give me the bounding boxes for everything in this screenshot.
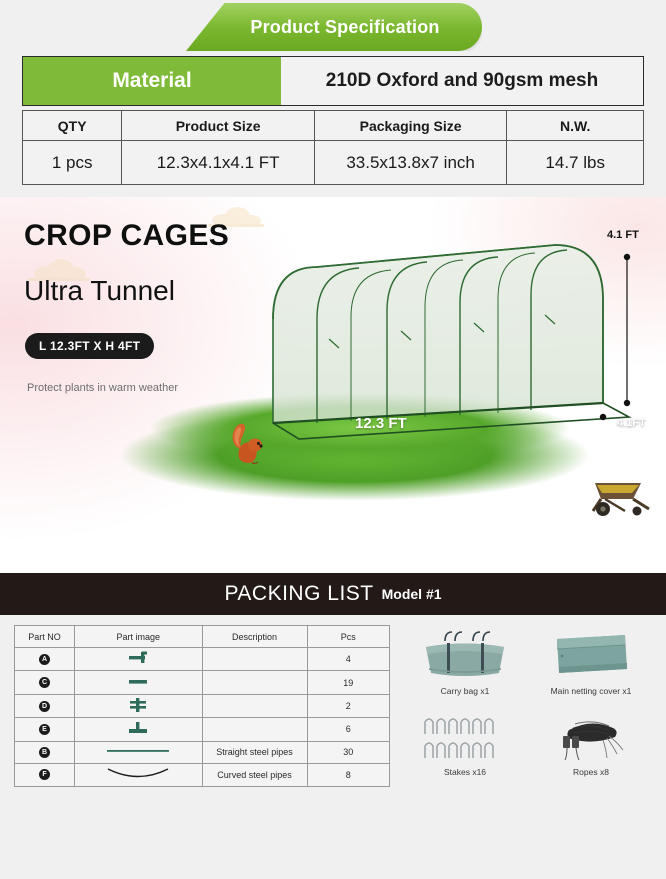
hero-subtitle: Ultra Tunnel xyxy=(24,275,175,307)
material-label: Material xyxy=(23,57,281,105)
part-no-cell: E xyxy=(15,718,75,741)
description-cell xyxy=(202,671,307,694)
spec-value-row: 1 pcs 12.3x4.1x4.1 FT 33.5x13.8x7 inch 1… xyxy=(23,141,644,185)
ropes-icon xyxy=(545,714,637,762)
hero-title: CROP CAGES xyxy=(24,219,229,253)
part-no-cell: D xyxy=(15,694,75,717)
table-row: C 19 xyxy=(15,671,390,694)
material-row: Material 210D Oxford and 90gsm mesh xyxy=(22,56,644,106)
straight-pipe-icon xyxy=(105,746,171,756)
parts-header-row: Part NO Part image Description Pcs xyxy=(15,626,390,648)
table-row: F Curved steel pipes 8 xyxy=(15,763,390,786)
product-image-tunnel-greenhouse: 4.1 FT 12.3 FT 4.1FT xyxy=(255,227,645,472)
part-badge: C xyxy=(39,677,50,688)
hero-size-badge: L 12.3FT X H 4FT xyxy=(25,333,154,359)
part-no-cell: F xyxy=(15,763,75,786)
part-image-cell xyxy=(75,694,203,717)
parts-header-part-no: Part NO xyxy=(15,626,75,648)
part-no-cell: A xyxy=(15,648,75,671)
accessory-image xyxy=(419,625,511,681)
sleeve-connector-icon xyxy=(121,675,155,689)
packing-list-model: Model #1 xyxy=(382,586,442,602)
pcs-cell: 8 xyxy=(307,763,390,786)
spec-value-packaging-size: 33.5x13.8x7 inch xyxy=(314,141,507,185)
description-cell xyxy=(202,694,307,717)
packing-list-body: Part NO Part image Description Pcs A 4 C xyxy=(0,615,666,787)
spec-header-packaging-size: Packaging Size xyxy=(314,111,507,141)
dimension-label-length: 12.3 FT xyxy=(355,415,407,432)
table-row: A 4 xyxy=(15,648,390,671)
spec-header-net-weight: N.W. xyxy=(507,111,644,141)
spec-value-product-size: 12.3x4.1x4.1 FT xyxy=(122,141,315,185)
specification-table: QTY Product Size Packaging Size N.W. 1 p… xyxy=(22,110,644,185)
description-cell: Curved steel pipes xyxy=(202,763,307,786)
accessory-image xyxy=(545,706,637,762)
part-image-cell xyxy=(75,718,203,741)
accessory-caption: Carry bag x1 xyxy=(441,686,490,696)
accessories-grid: Carry bag x1 Main netting cover x1 xyxy=(402,625,654,787)
packing-list-header: PACKING LIST Model #1 xyxy=(0,573,666,615)
spec-value-net-weight: 14.7 lbs xyxy=(507,141,644,185)
pcs-cell: 19 xyxy=(307,671,390,694)
part-no-cell: B xyxy=(15,741,75,763)
part-badge: A xyxy=(39,654,50,665)
part-image-cell xyxy=(75,671,203,694)
accessory-main-netting-cover: Main netting cover x1 xyxy=(528,625,654,706)
tee-connector-icon xyxy=(121,721,155,735)
part-badge: F xyxy=(39,769,50,780)
product-specification-banner: Product Specification xyxy=(186,3,482,51)
part-image-cell xyxy=(75,741,203,763)
part-no-cell: C xyxy=(15,671,75,694)
tunnel-greenhouse-icon xyxy=(255,227,645,472)
accessory-caption: Ropes x8 xyxy=(573,767,609,777)
dimension-label-depth: 4.1FT xyxy=(617,417,646,429)
banner-section: Product Specification xyxy=(0,0,666,56)
pcs-cell: 4 xyxy=(307,648,390,671)
table-row: E 6 xyxy=(15,718,390,741)
accessory-image xyxy=(419,706,511,762)
table-row: D 2 xyxy=(15,694,390,717)
accessory-image xyxy=(545,625,637,681)
hero-section: CROP CAGES Ultra Tunnel L 12.3FT X H 4FT… xyxy=(0,197,666,573)
wheelbarrow-icon xyxy=(585,469,653,517)
spec-header-qty: QTY xyxy=(23,111,122,141)
cross-connector-icon xyxy=(121,698,155,712)
carry-bag-icon xyxy=(419,629,511,681)
parts-header-description: Description xyxy=(202,626,307,648)
netting-cover-icon xyxy=(545,629,637,681)
pcs-cell: 6 xyxy=(307,718,390,741)
accessory-stakes: Stakes x16 xyxy=(402,706,528,787)
pcs-cell: 30 xyxy=(307,741,390,763)
curved-pipe-icon xyxy=(105,767,171,781)
description-cell xyxy=(202,718,307,741)
pcs-cell: 2 xyxy=(307,694,390,717)
spec-header-row: QTY Product Size Packaging Size N.W. xyxy=(23,111,644,141)
squirrel-icon xyxy=(228,419,268,467)
part-image-cell xyxy=(75,763,203,786)
accessory-carry-bag: Carry bag x1 xyxy=(402,625,528,706)
parts-header-pcs: Pcs xyxy=(307,626,390,648)
part-badge: D xyxy=(39,701,50,712)
specification-section: Material 210D Oxford and 90gsm mesh QTY … xyxy=(0,56,666,185)
accessory-caption: Main netting cover x1 xyxy=(551,686,632,696)
elbow-connector-icon xyxy=(121,651,155,665)
parts-header-part-image: Part image xyxy=(75,626,203,648)
accessory-ropes: Ropes x8 xyxy=(528,706,654,787)
table-row: B Straight steel pipes 30 xyxy=(15,741,390,763)
part-image-cell xyxy=(75,648,203,671)
part-badge: B xyxy=(39,747,50,758)
description-cell xyxy=(202,648,307,671)
hero-tagline: Protect plants in warm weather xyxy=(27,382,178,394)
spec-header-product-size: Product Size xyxy=(122,111,315,141)
description-cell: Straight steel pipes xyxy=(202,741,307,763)
part-badge: E xyxy=(39,724,50,735)
banner-title: Product Specification xyxy=(228,17,439,38)
dimension-label-height: 4.1 FT xyxy=(607,229,639,241)
parts-table: Part NO Part image Description Pcs A 4 C xyxy=(14,625,390,787)
spec-value-qty: 1 pcs xyxy=(23,141,122,185)
packing-list-title: PACKING LIST xyxy=(224,582,373,606)
accessory-caption: Stakes x16 xyxy=(444,767,486,777)
material-value: 210D Oxford and 90gsm mesh xyxy=(281,57,643,105)
stakes-icon xyxy=(419,714,511,762)
